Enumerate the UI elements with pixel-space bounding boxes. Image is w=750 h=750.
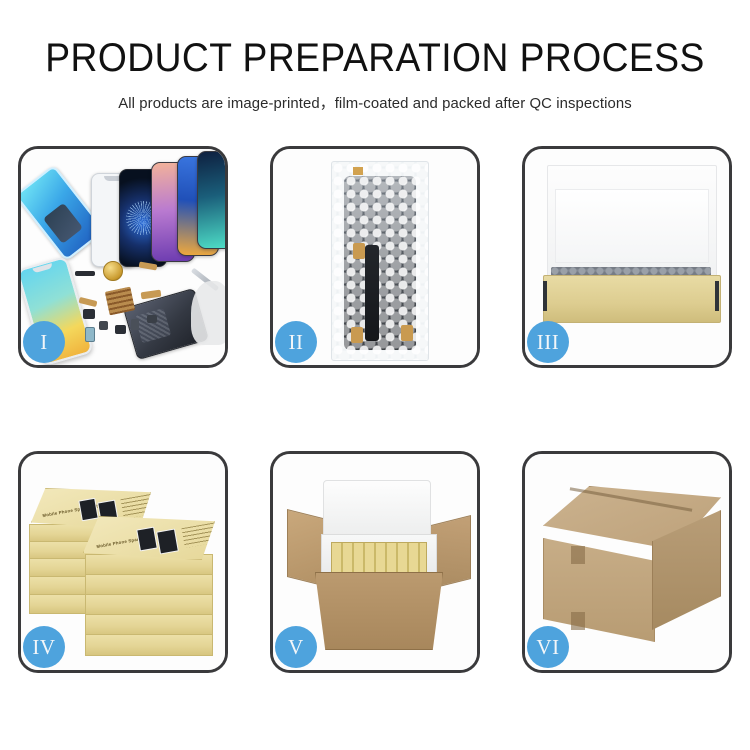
step-numeral: VI [536, 635, 559, 660]
step-numeral: I [40, 330, 48, 355]
box-window-icon [136, 527, 158, 552]
bubble-wrap-bag-icon [331, 161, 429, 361]
step-panel-5: V [270, 451, 480, 673]
box-corner-icon [543, 281, 547, 311]
screen-flex-cable-icon [365, 245, 379, 341]
step-badge-1: I [23, 321, 65, 363]
small-part-icon [85, 327, 95, 342]
flex-cable-icon [79, 297, 98, 307]
step-badge-2: II [275, 321, 317, 363]
step-panel-6: VI [522, 451, 732, 673]
carton-front-face-icon [543, 538, 655, 642]
step-numeral: II [289, 330, 304, 355]
page-title: PRODUCT PREPARATION PROCESS [26, 38, 724, 78]
gold-connector-icon [353, 243, 365, 259]
carton-tape-icon [571, 546, 585, 564]
step-numeral: V [288, 635, 304, 660]
step-panel-2: II [270, 146, 480, 368]
step-numeral: III [537, 330, 559, 355]
step-badge-4: IV [23, 626, 65, 668]
small-part-icon [83, 309, 95, 319]
hand-icon [191, 281, 228, 345]
foam-box-lid-icon [323, 480, 431, 540]
speaker-icon [75, 271, 95, 276]
gold-connector-icon [401, 325, 413, 341]
bag-seal-tab-icon [353, 167, 363, 175]
process-step-grid: I II III [0, 138, 750, 698]
box-window-icon [78, 498, 98, 522]
yellow-inner-box-icon [543, 275, 721, 323]
gold-connector-icon [351, 327, 363, 343]
vibration-motor-icon [103, 261, 123, 281]
step-panel-4: Mobile Phone Spare Parts Mobile Phone Sp… [18, 451, 228, 673]
step-badge-5: V [275, 626, 317, 668]
box-spec-lines [121, 493, 160, 519]
step-badge-3: III [527, 321, 569, 363]
step-panel-1: I [18, 146, 228, 368]
outer-carton-body-icon [315, 572, 443, 650]
box-spec-lines [182, 522, 221, 548]
small-part-icon [99, 321, 108, 330]
box-window-icon [156, 529, 179, 555]
step-badge-6: VI [527, 626, 569, 668]
white-foam-sheet-icon [555, 189, 709, 263]
page-header: PRODUCT PREPARATION PROCESS All products… [0, 0, 750, 113]
box-corner-icon [715, 281, 719, 311]
step-panel-3: III [522, 146, 732, 368]
small-part-icon [131, 319, 139, 330]
phone-teal-icon [197, 151, 228, 249]
page-subtitle: All products are image-printed，film-coat… [8, 91, 743, 113]
small-part-icon [115, 325, 126, 334]
carton-tape-icon [571, 612, 585, 630]
step-numeral: IV [32, 635, 55, 660]
small-part-icon [147, 315, 157, 323]
